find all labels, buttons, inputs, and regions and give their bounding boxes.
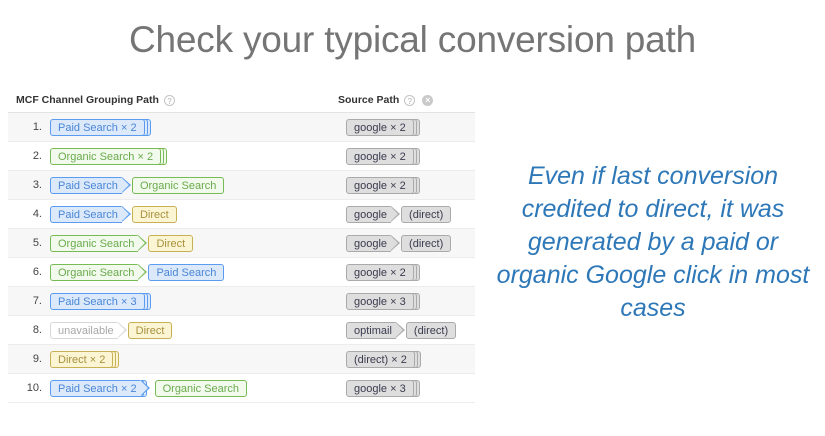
cell-channel-path: Paid SearchOrganic Search [50,177,346,194]
path-badge[interactable]: google × 3 [346,380,414,397]
path-badge-label: Direct × 2 [50,351,113,368]
cell-channel-path: Direct × 2 [50,351,346,368]
path-badge-label: Paid Search [148,264,224,281]
path-badge[interactable]: unavailable [50,322,118,339]
path-badge[interactable]: (direct) [406,322,456,339]
column-header-channel-path-label: MCF Channel Grouping Path [16,94,159,106]
path-badge[interactable]: Organic Search [132,177,224,194]
path-badge-label: (direct) [401,206,451,223]
column-header-source-path-label: Source Path [338,94,399,106]
table-row[interactable]: 1.Paid Search × 2google × 2 [8,113,475,142]
path-badge[interactable]: Direct × 2 [50,351,113,368]
path-badge[interactable]: Paid Search [50,177,122,194]
cell-source-path: google(direct) [346,206,475,223]
row-index: 5. [16,237,50,249]
path-badge-label: (direct) [406,322,456,339]
path-badge[interactable]: google × 3 [346,293,414,310]
path-badge[interactable]: (direct) [401,206,451,223]
path-badge[interactable]: Direct [132,206,177,223]
path-badge[interactable]: Organic Search [155,380,247,397]
path-badge[interactable]: Organic Search [50,264,138,281]
path-badge-label: (direct) × 2 [346,351,415,368]
path-badge-label: Organic Search [50,235,138,252]
path-badge-label: Direct [128,322,173,339]
path-badge-label: unavailable [50,322,118,339]
cell-source-path: google × 3 [346,293,475,310]
path-badge-label: Organic Search [132,177,224,194]
path-badge[interactable]: Paid Search × 2 [50,119,145,136]
page-title: Check your typical conversion path [0,18,825,62]
table-row[interactable]: 5.Organic SearchDirectgoogle(direct) [8,229,475,258]
cell-source-path: (direct) × 2 [346,351,475,368]
path-badge[interactable]: optimail [346,322,396,339]
path-badge[interactable]: Organic Search × 2 [50,148,161,165]
path-badge[interactable]: Organic Search [50,235,138,252]
cell-source-path: google × 2 [346,177,475,194]
help-icon[interactable]: ? [164,95,175,106]
cell-source-path: optimail(direct) [346,322,475,339]
path-badge-label: Organic Search × 2 [50,148,161,165]
table-row[interactable]: 9.Direct × 2(direct) × 2 [8,345,475,374]
path-badge[interactable]: Paid Search [148,264,224,281]
table-row[interactable]: 8.unavailableDirectoptimail(direct) [8,316,475,345]
path-badge[interactable]: Direct [128,322,173,339]
path-badge-label: google × 2 [346,264,414,281]
path-badge-label: google × 3 [346,380,414,397]
path-badge[interactable]: (direct) × 2 [346,351,415,368]
path-badge[interactable]: Direct [148,235,193,252]
cell-source-path: google × 2 [346,148,475,165]
row-index: 3. [16,179,50,191]
cell-channel-path: unavailableDirect [50,322,346,339]
row-index: 4. [16,208,50,220]
path-badge-label: Paid Search × 2 [50,380,141,397]
row-index: 9. [16,353,50,365]
table-row[interactable]: 4.Paid SearchDirectgoogle(direct) [8,200,475,229]
table-row[interactable]: 2.Organic Search × 2google × 2 [8,142,475,171]
cell-source-path: google × 2 [346,264,475,281]
cell-source-path: google(direct) [346,235,475,252]
path-badge-label: Direct [132,206,177,223]
table-header-row: MCF Channel Grouping Path ? Source Path … [8,88,475,113]
cell-channel-path: Organic Search × 2 [50,148,346,165]
path-badge[interactable]: google × 2 [346,264,414,281]
path-badge-label: Direct [148,235,193,252]
table-row[interactable]: 7.Paid Search × 3google × 3 [8,287,475,316]
close-icon[interactable]: × [422,95,433,106]
cell-channel-path: Paid Search × 2 [50,119,346,136]
conversion-path-table: MCF Channel Grouping Path ? Source Path … [8,88,475,403]
column-header-channel-path: MCF Channel Grouping Path ? [16,94,338,106]
row-index: 8. [16,324,50,336]
path-badge[interactable]: Paid Search × 2 [50,380,141,397]
path-badge-label: Paid Search [50,177,122,194]
row-index: 6. [16,266,50,278]
path-badge-label: Organic Search [155,380,247,397]
path-badge[interactable]: Paid Search [50,206,122,223]
row-index: 7. [16,295,50,307]
path-badge-label: (direct) [401,235,451,252]
table-row[interactable]: 3.Paid SearchOrganic Searchgoogle × 2 [8,171,475,200]
path-badge[interactable]: Paid Search × 3 [50,293,145,310]
cell-channel-path: Organic SearchDirect [50,235,346,252]
path-badge-label: Organic Search [50,264,138,281]
cell-channel-path: Paid SearchDirect [50,206,346,223]
path-badge-label: google [346,235,391,252]
path-badge[interactable]: google × 2 [346,177,414,194]
path-badge-label: google × 2 [346,148,414,165]
path-badge[interactable]: google [346,235,391,252]
path-badge[interactable]: google × 2 [346,119,414,136]
path-badge[interactable]: google [346,206,391,223]
help-icon[interactable]: ? [404,95,415,106]
path-badge-label: optimail [346,322,396,339]
path-badge-label: Paid Search × 3 [50,293,145,310]
path-badge[interactable]: (direct) [401,235,451,252]
cell-channel-path: Paid Search × 3 [50,293,346,310]
table-row[interactable]: 6.Organic SearchPaid Searchgoogle × 2 [8,258,475,287]
path-badge-label: google [346,206,391,223]
path-badge-label: Paid Search × 2 [50,119,145,136]
cell-source-path: google × 3 [346,380,475,397]
table-body: 1.Paid Search × 2google × 22.Organic Sea… [8,113,475,403]
table-row[interactable]: 10.Paid Search × 2Organic Searchgoogle ×… [8,374,475,403]
row-index: 1. [16,121,50,133]
path-badge[interactable]: google × 2 [346,148,414,165]
path-badge-label: google × 3 [346,293,414,310]
row-index: 2. [16,150,50,162]
cell-source-path: google × 2 [346,119,475,136]
column-header-source-path: Source Path ? × [338,94,475,106]
path-badge-label: Paid Search [50,206,122,223]
cell-channel-path: Paid Search × 2Organic Search [50,380,346,397]
path-badge-label: google × 2 [346,177,414,194]
caption-text: Even if last conversion credited to dire… [485,160,821,325]
path-badge-label: google × 2 [346,119,414,136]
cell-channel-path: Organic SearchPaid Search [50,264,346,281]
row-index: 10. [16,382,50,394]
